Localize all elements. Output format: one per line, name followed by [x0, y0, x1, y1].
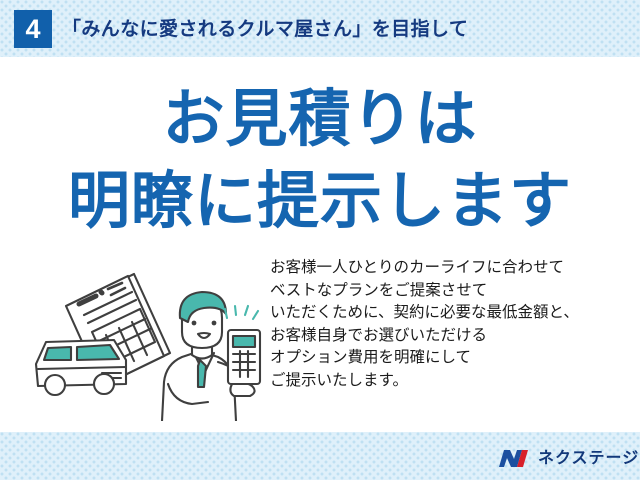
body-line: ベストなプランをご提案させて [270, 279, 630, 302]
brand-logo: ネクステージ [497, 447, 639, 469]
body-line: ご提示いたします。 [270, 369, 630, 392]
brand-name: ネクステージ [538, 450, 639, 466]
body-line: いただくために、契約に必要な最低金額と、 [270, 301, 630, 324]
step-number-label: 4 [25, 16, 40, 43]
body-paragraph: お客様一人ひとりのカーライフに合わせて ベストなプランをご提案させて いただくた… [270, 256, 630, 392]
step-number-badge: 4 [14, 10, 52, 48]
body-line: オプション費用を明確にして [270, 346, 630, 369]
body-line: お客様自身でお選びいただける [270, 324, 630, 347]
illustration [22, 256, 272, 421]
nextage-n-logo-icon [497, 448, 531, 469]
body-line: お客様一人ひとりのカーライフに合わせて [270, 256, 630, 279]
illustration-svg [22, 256, 272, 421]
header-title: 「みんなに愛されるクルマ屋さん」を目指して [62, 14, 468, 41]
headline-line-1: お見積りは [0, 88, 640, 150]
advertisement-page: 4 「みんなに愛されるクルマ屋さん」を目指して お見積りは 明瞭に提示します [0, 0, 640, 480]
headline-line-2: 明瞭に提示します [0, 170, 640, 232]
